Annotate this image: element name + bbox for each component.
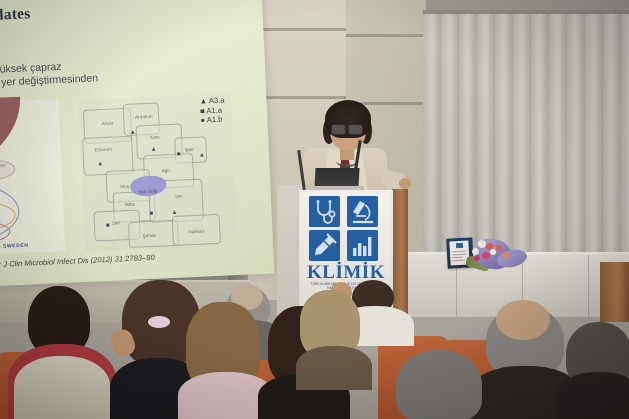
map-marker: ▲ xyxy=(130,130,136,136)
audience-shoulders xyxy=(296,346,372,390)
audience-jacket xyxy=(14,356,110,419)
flower xyxy=(496,245,502,251)
map-province-label: Van xyxy=(175,193,183,198)
flower xyxy=(472,248,479,255)
map-province-label: Iğdır xyxy=(185,147,194,152)
flower xyxy=(478,240,486,248)
one-health-diagram: Molecular and microbiology Health econom… xyxy=(0,99,65,258)
slide-citation: R. Eur J Clin Microbiol Infect Dis (2012… xyxy=(0,253,155,270)
map-lake-label: Van Gölü xyxy=(138,189,157,195)
curtain xyxy=(423,14,629,260)
map-marker: ▲ xyxy=(199,152,205,158)
map-marker: ▲ xyxy=(97,161,103,167)
map-marker: ■ xyxy=(106,223,110,229)
stethoscope-icon xyxy=(309,196,340,227)
map-marker: ▲ xyxy=(151,147,157,153)
flower xyxy=(503,252,509,258)
flower xyxy=(490,249,496,255)
map-province-label: Bitlis xyxy=(125,202,135,207)
award-plaque-logo-icon xyxy=(456,243,463,248)
map-province-label: Artvin xyxy=(101,121,113,127)
wooden-door-right xyxy=(600,262,629,322)
map-province-label: Kars xyxy=(150,134,160,139)
podium-top-surface xyxy=(273,180,412,190)
slide-title-line1: nthracis isolates xyxy=(0,5,31,28)
flower xyxy=(482,252,490,259)
turkey-map: ▲ A3.a ■ A1.a ● A1.b ArtvinArdahanKarsEr… xyxy=(78,93,237,252)
map-province-label: Hakkari xyxy=(188,229,204,235)
speaker-glasses-right xyxy=(348,124,363,135)
map-province-label: Erzurum xyxy=(94,147,112,153)
map-province-label: Ardahan xyxy=(135,114,153,120)
map-province-label: Ağrı xyxy=(162,168,171,173)
hair-clip xyxy=(148,316,170,328)
microscope-icon xyxy=(347,196,378,227)
map-province-label: Şırnak xyxy=(142,233,155,239)
syringe-icon xyxy=(309,230,340,261)
map-province-label: Muş xyxy=(120,184,129,189)
flower xyxy=(474,255,480,261)
legend-item-2: ● A1.b xyxy=(200,114,225,125)
map-province-label: Siirt xyxy=(112,220,120,225)
speaker-glasses-bridge xyxy=(344,128,349,129)
audience-shoulders xyxy=(556,372,629,419)
map-marker: ■ xyxy=(149,211,153,217)
map-legend: ▲ A3.a ■ A1.a ● A1.b xyxy=(199,96,225,126)
podium-side-right xyxy=(392,189,408,325)
slide-body-line2: en hayvanların yer değiştirmesinden xyxy=(0,72,98,92)
podium-side-left xyxy=(277,189,299,325)
bar-chart-icon xyxy=(347,230,378,261)
audience-head-bald xyxy=(496,300,550,340)
map-marker: ▲ xyxy=(171,210,177,216)
map-marker: ■ xyxy=(177,152,181,158)
speaker-glasses-left xyxy=(331,124,346,135)
audience-head xyxy=(396,350,482,419)
photo-scene: nthracis isolates o 2011 n Türkiye'de yü… xyxy=(0,0,629,419)
projection-screen: nthracis isolates o 2011 n Türkiye'de yü… xyxy=(0,0,274,286)
